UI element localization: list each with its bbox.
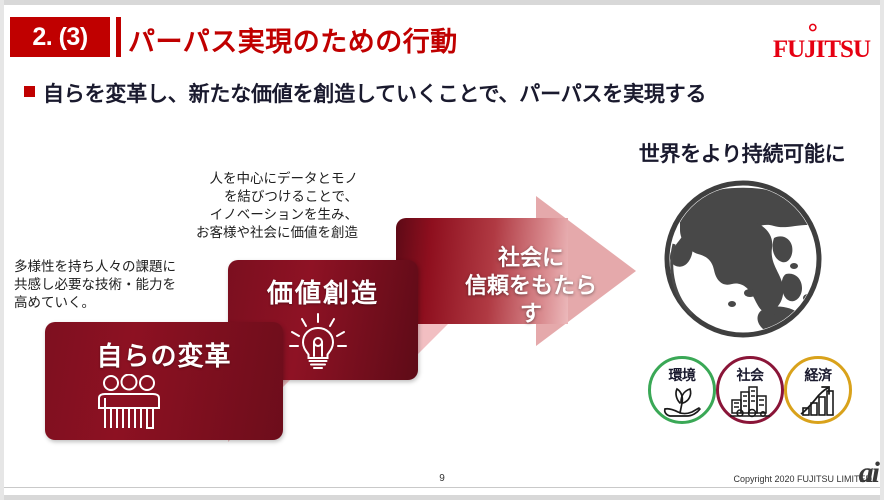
slide-canvas: 2. (3) パーパス実現のための行動 FUJITSU 自らを変革し、新たな価値… [0, 0, 884, 500]
fujitsu-logo: FUJITSU [750, 24, 870, 64]
description-self-transformation: 多様性を持ち人々の課題に 共感し必要な技術・能力を 高めていく。 [14, 258, 176, 312]
lightbulb-icon [288, 312, 348, 374]
block-self-transformation: 自らの変革 [45, 322, 283, 440]
page-title: パーパス実現のための行動 [128, 20, 458, 59]
pillar-label-economy: 経済 [784, 365, 852, 385]
block-label-self-transformation: 自らの変革 [45, 336, 283, 373]
description-value-creation: 人を中心にデータとモノ を結びつけることで、 イノベーションを生み、 お客様や社… [196, 170, 358, 242]
pillar-economy: 経済 [784, 356, 852, 424]
hand-sprout-icon [661, 384, 703, 418]
growth-chart-icon [797, 384, 839, 418]
header-divider-rule [116, 17, 121, 57]
footer-divider [4, 487, 880, 488]
pillar-label-environment: 環境 [648, 365, 716, 385]
goal-caption: 世界をより持続可能に [612, 138, 872, 168]
slide-bottom-edge [0, 495, 884, 500]
pillar-label-society: 社会 [716, 365, 784, 385]
block-trust-to-society: 社会に 信頼をもたらす [396, 196, 636, 346]
block-label-value-creation: 価値創造 [228, 273, 418, 310]
subtitle-text: 自らを変革し、新たな価値を創造していくことで、パーパスを実現する [43, 78, 706, 108]
block-label-trust-to-society: 社会に 信頼をもたらす [456, 244, 606, 328]
pillar-society: 社会 [716, 356, 784, 424]
infinity-icon [804, 21, 823, 34]
globe-icon [662, 178, 824, 340]
pillar-environment: 環境 [648, 356, 716, 424]
people-icon [94, 374, 164, 432]
slide-left-edge [0, 0, 4, 500]
slide-right-edge [880, 0, 884, 500]
square-bullet-icon [24, 86, 35, 97]
slide-top-edge [0, 0, 884, 5]
ai-watermark: ai [859, 458, 878, 488]
copyright-text: Copyright 2020 FUJITSU LIMITED [733, 474, 872, 484]
fujitsu-logo-text: FUJITSU [750, 36, 870, 64]
section-number-badge: 2. (3) [10, 17, 110, 57]
cityscape-icon [729, 384, 771, 418]
